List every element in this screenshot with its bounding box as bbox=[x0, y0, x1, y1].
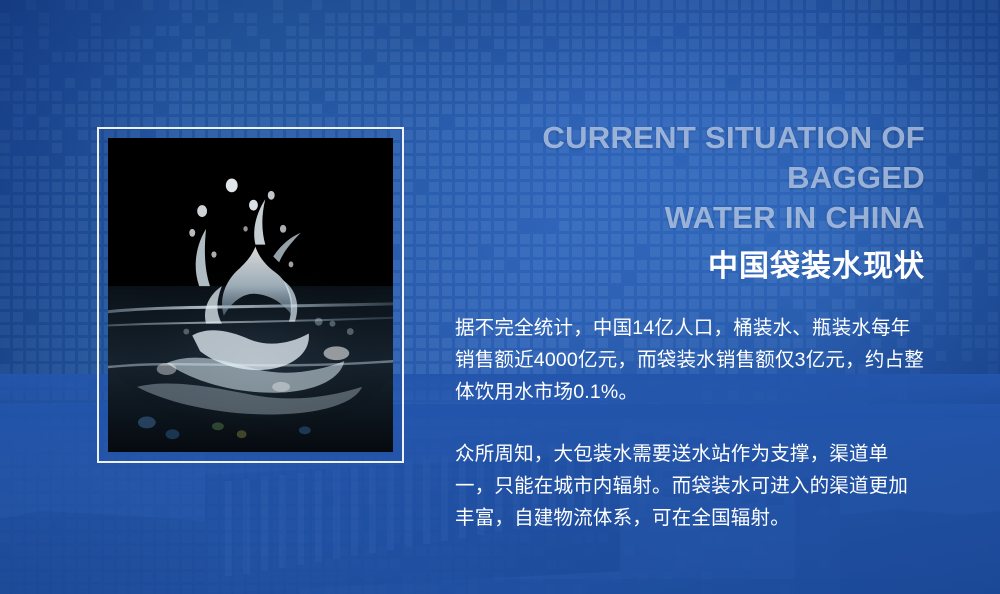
photo-frame bbox=[97, 127, 404, 463]
paragraph-1: 据不完全统计，中国14亿人口，桶装水、瓶装水每年销售额近4000亿元，而袋装水销… bbox=[455, 312, 925, 408]
slide-root: CURRENT SITUATION OF BAGGED WATER IN CHI… bbox=[0, 0, 1000, 594]
water-splash-illustration bbox=[108, 138, 393, 452]
water-splash-photo bbox=[108, 138, 393, 452]
paragraph-2: 众所周知，大包装水需要送水站作为支撑，渠道单一，只能在城市内辐射。而袋装水可进入… bbox=[455, 438, 925, 534]
title-english-line-1: CURRENT SITUATION OF BAGGED bbox=[542, 120, 925, 195]
content-column: CURRENT SITUATION OF BAGGED WATER IN CHI… bbox=[455, 118, 925, 534]
title-english: CURRENT SITUATION OF BAGGED WATER IN CHI… bbox=[455, 118, 925, 238]
title-english-line-2: WATER IN CHINA bbox=[665, 200, 925, 235]
title-chinese: 中国袋装水现状 bbox=[455, 248, 925, 286]
